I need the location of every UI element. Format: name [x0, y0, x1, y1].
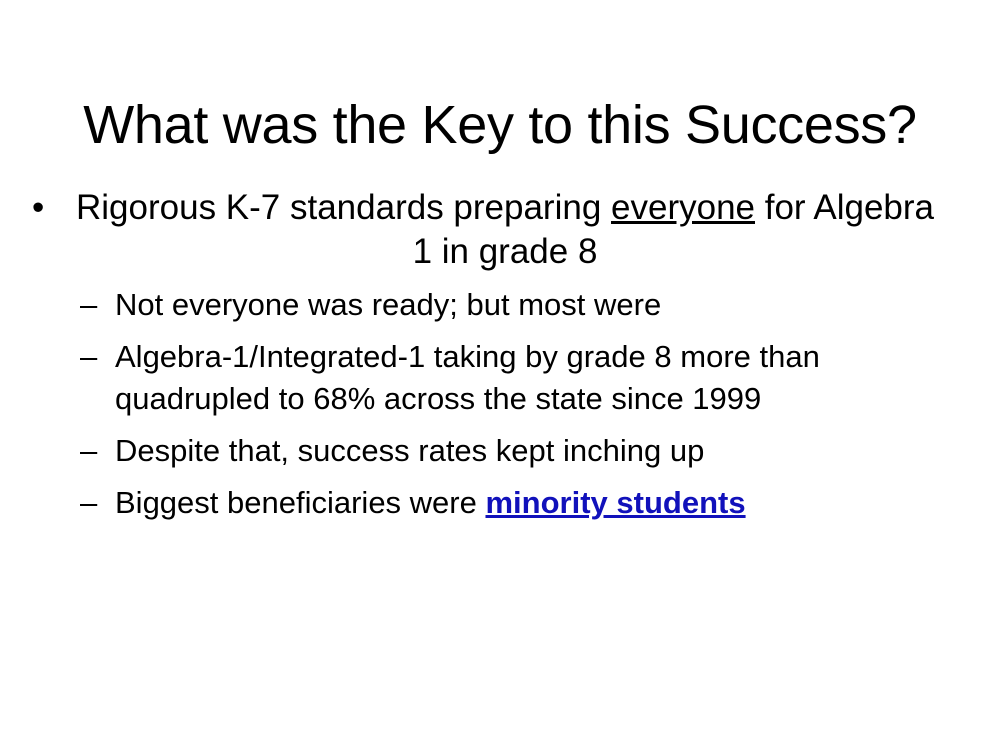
- bullet-dot-icon: •: [32, 186, 44, 230]
- bullet-item-level2-2: – Algebra-1/Integrated-1 taking by grade…: [0, 336, 1000, 420]
- page-title: What was the Key to this Success?: [40, 94, 960, 156]
- bullet-dash-icon: –: [80, 284, 97, 326]
- emphasis-minority-students: minority students: [485, 485, 745, 520]
- bullet-item-level2-3: – Despite that, success rates kept inchi…: [0, 430, 1000, 472]
- bullet-dash-icon: –: [80, 430, 97, 472]
- bullet-level1-text: Rigorous K-7 standards preparing everyon…: [70, 186, 940, 274]
- emphasis-everyone: everyone: [611, 188, 755, 227]
- bullet-text-before: Rigorous K-7 standards preparing: [76, 188, 611, 227]
- bullet-level2-text: Despite that, success rates kept inching…: [115, 430, 945, 472]
- bullet-level2-text: Not everyone was ready; but most were: [115, 284, 945, 326]
- bullet-text-before: Biggest beneficiaries were: [115, 485, 485, 520]
- bullet-dash-icon: –: [80, 336, 97, 378]
- slide-body: • Rigorous K-7 standards preparing every…: [0, 186, 1000, 524]
- bullet-item-level2-1: – Not everyone was ready; but most were: [0, 284, 1000, 326]
- bullet-item-level2-4: – Biggest beneficiaries were minority st…: [0, 482, 1000, 524]
- bullet-level2-text: Algebra-1/Integrated-1 taking by grade 8…: [115, 336, 945, 420]
- bullet-level2-text: Biggest beneficiaries were minority stud…: [115, 482, 945, 524]
- bullet-item-level1: • Rigorous K-7 standards preparing every…: [0, 186, 1000, 274]
- bullet-dash-icon: –: [80, 482, 97, 524]
- slide-canvas: What was the Key to this Success? • Rigo…: [0, 0, 1000, 750]
